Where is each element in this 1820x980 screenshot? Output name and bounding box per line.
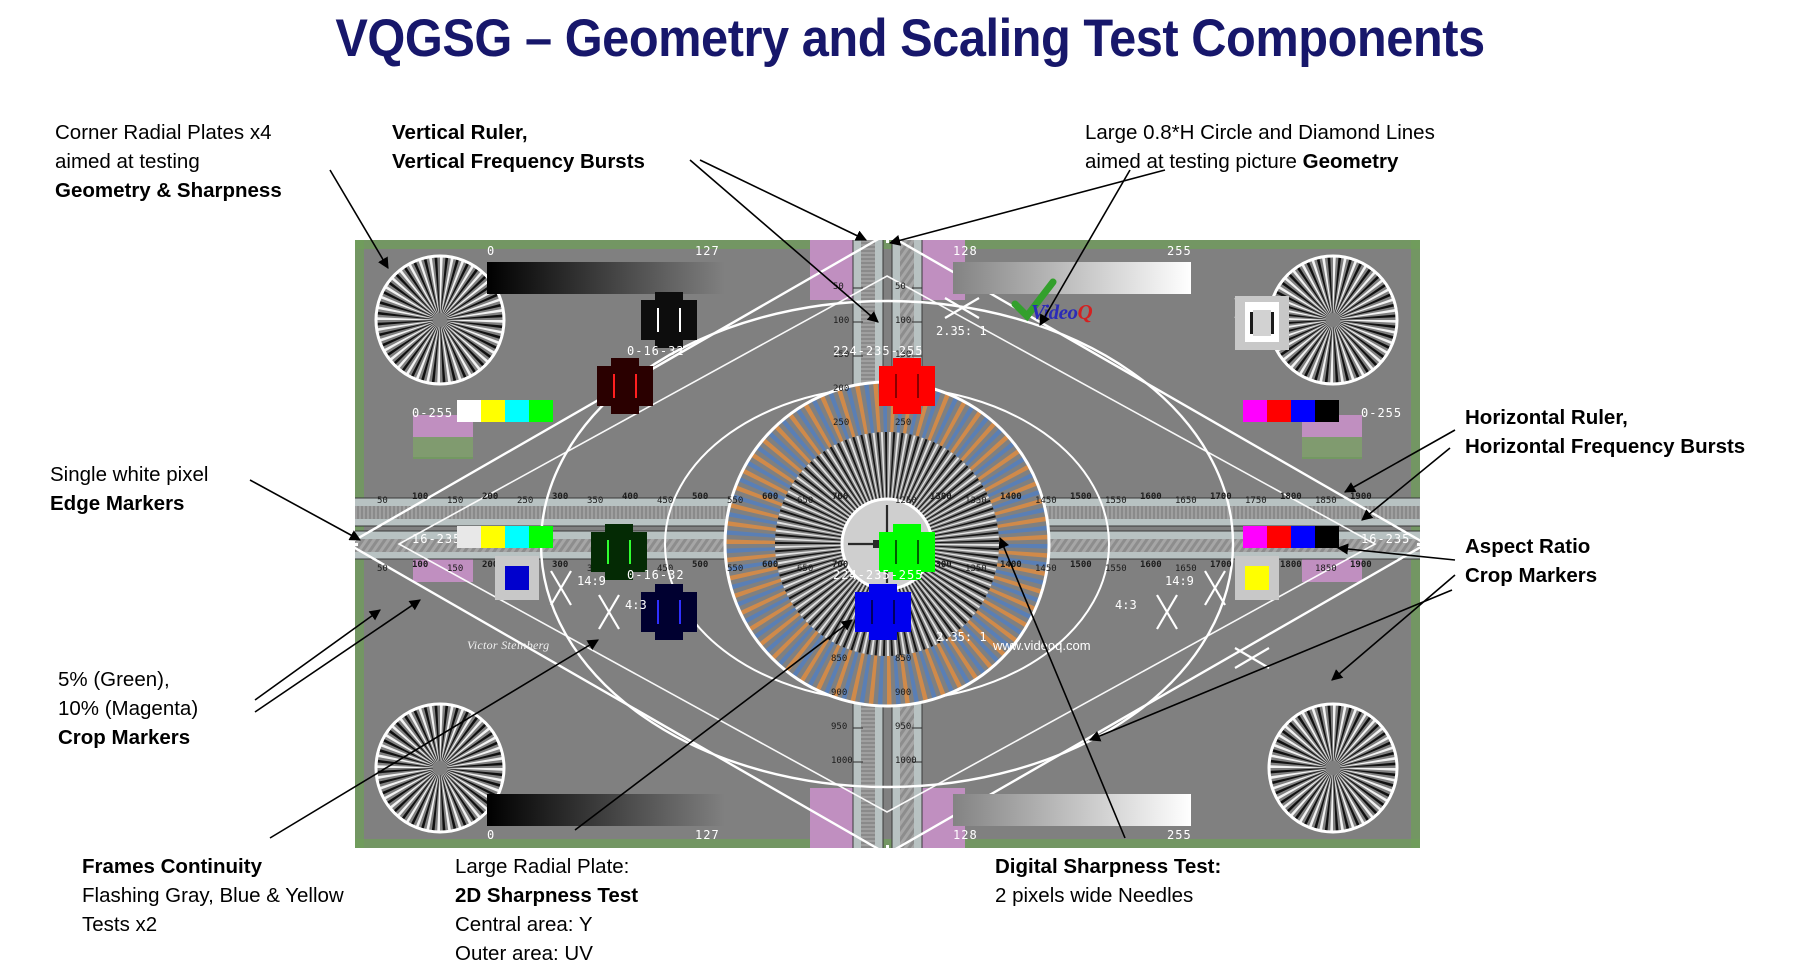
ruler-tick-label: 100 [412, 560, 428, 570]
annotation-large-circle-diamond: Large 0.8*H Circle and Diamond Linesaime… [1085, 118, 1435, 176]
annotation-line: aimed at testing picture Geometry [1085, 147, 1435, 176]
ruler-tick-label: 1350 [965, 564, 987, 574]
ruler-tick-label: 1550 [1105, 496, 1127, 506]
needle-red-dark [597, 358, 653, 414]
ruler-tick-label: 1250 [895, 496, 917, 506]
ruler-tick-label: 1400 [1000, 560, 1022, 570]
ruler-tick-label: 600 [762, 492, 778, 502]
ruler-tick-label: 500 [692, 560, 708, 570]
ruler-tick-label: 1000 [831, 756, 853, 766]
ruler-tick-label: 250 [895, 418, 911, 428]
annotation-line: 2D Sharpness Test [455, 881, 638, 910]
logo-text-primary: Video [1031, 300, 1078, 324]
ramp-top-left-low: 0 [487, 244, 495, 258]
ruler-tick-label: 300 [552, 560, 568, 570]
annotation-line: Large Radial Plate: [455, 852, 638, 881]
ruler-tick-label: 600 [762, 560, 778, 570]
aspect-label-149-right: 14:9 [1165, 574, 1194, 588]
color-swatch [529, 526, 553, 548]
needle-label-bottom-right: 224-235-255 [833, 568, 923, 582]
annotation-line: Vertical Frequency Bursts [392, 147, 645, 176]
ramp-top-left [487, 262, 725, 294]
ruler-tick-label: 550 [727, 564, 743, 574]
annotation-frames-continuity: Frames ContinuityFlashing Gray, Blue & Y… [82, 852, 344, 939]
ruler-tick-label: 500 [692, 492, 708, 502]
ruler-tick-label: 1450 [1035, 564, 1057, 574]
ruler-tick-label: 950 [831, 722, 847, 732]
ruler-tick-label: 250 [517, 496, 533, 506]
ruler-tick-label: 950 [895, 722, 911, 732]
ruler-tick-label: 1600 [1140, 560, 1162, 570]
color-swatch [1315, 400, 1339, 422]
colorbar-label-upper-right: 0-255 [1361, 406, 1402, 420]
aspect-label-43-left: 4:3 [625, 598, 647, 612]
color-swatch [481, 400, 505, 422]
ruler-tick-label: 1000 [895, 756, 917, 766]
ramp-bottom-right-high: 255 [1167, 828, 1192, 842]
ruler-tick-label: 550 [727, 496, 743, 506]
annotation-line: Aspect Ratio [1465, 532, 1597, 561]
annotation-line: Corner Radial Plates x4 [55, 118, 282, 147]
annotation-single-white-pixel: Single white pixelEdge Markers [50, 460, 208, 518]
aspect-label-235-bottom: 2.35: 1 [936, 630, 987, 644]
needle-blue-dark [641, 584, 697, 640]
ruler-tick-label: 1450 [1035, 496, 1057, 506]
aspect-label-43-right: 4:3 [1115, 598, 1137, 612]
ruler-tick-label: 650 [797, 496, 813, 506]
annotation-line: Flashing Gray, Blue & Yellow [82, 881, 344, 910]
ramp-bottom-left-low: 0 [487, 828, 495, 842]
needle-red [879, 358, 935, 414]
ruler-tick-label: 200 [482, 492, 498, 502]
ruler-tick-label: 100 [833, 316, 849, 326]
ruler-tick-label: 1650 [1175, 496, 1197, 506]
ruler-tick-label: 150 [447, 564, 463, 574]
annotation-line: 10% (Magenta) [58, 694, 198, 723]
videoq-logo: VideoQ [1007, 278, 1093, 324]
annotation-line: 5% (Green), [58, 665, 198, 694]
logo-text-accent: Q [1078, 300, 1093, 324]
corner-radial-plate [376, 256, 504, 384]
ruler-tick-label: 450 [657, 496, 673, 506]
ruler-tick-label: 150 [447, 496, 463, 506]
ruler-tick-label: 400 [622, 492, 638, 502]
ruler-tick-label: 250 [833, 418, 849, 428]
ruler-tick-label: 200 [833, 384, 849, 394]
ruler-tick-label: 50 [377, 564, 388, 574]
colorbars-upper-left [457, 400, 553, 422]
annotation-aspect-ratio-crop-markers: Aspect RatioCrop Markers [1465, 532, 1597, 590]
ruler-tick-label: 1500 [1070, 492, 1092, 502]
annotation-line: Edge Markers [50, 489, 208, 518]
ruler-tick-label: 350 [587, 496, 603, 506]
ruler-tick-label: 1400 [1000, 492, 1022, 502]
color-swatch [457, 400, 481, 422]
color-swatch [481, 526, 505, 548]
ruler-tick-label: 850 [831, 654, 847, 664]
ruler-tick-label: 1750 [1245, 496, 1267, 506]
colorbars-lower-left [457, 526, 553, 548]
colorbar-label-lower-left: 16-235 [412, 532, 461, 546]
ruler-tick-label: 900 [895, 688, 911, 698]
color-swatch [457, 526, 481, 548]
ruler-tick-label: 900 [831, 688, 847, 698]
color-swatch [1291, 400, 1315, 422]
needle-blue [855, 584, 911, 640]
annotation-line: 2 pixels wide Needles [995, 881, 1221, 910]
color-swatch [1315, 526, 1339, 548]
ruler-tick-label: 100 [412, 492, 428, 502]
annotation-line: Single white pixel [50, 460, 208, 489]
ruler-tick-label: 1800 [1280, 560, 1302, 570]
ruler-tick-label: 650 [797, 564, 813, 574]
needle-black-top [641, 292, 697, 348]
corner-radial-plate [376, 704, 504, 832]
ruler-tick-label: 300 [552, 492, 568, 502]
annotation-line: Large 0.8*H Circle and Diamond Lines [1085, 118, 1435, 147]
annotation-line: Tests x2 [82, 910, 344, 939]
aspect-label-149-left: 14:9 [577, 574, 606, 588]
colorbar-label-lower-right: 16-235 [1361, 532, 1410, 546]
ruler-tick-label: 1700 [1210, 492, 1232, 502]
ruler-tick-label: 850 [895, 654, 911, 664]
colorbars-lower-right [1243, 526, 1339, 548]
flashing-yellow-box [1235, 556, 1279, 600]
color-swatch [1291, 526, 1315, 548]
annotation-line: Crop Markers [1465, 561, 1597, 590]
ramp-bottom-right-low: 128 [953, 828, 978, 842]
annotation-line: aimed at testing [55, 147, 282, 176]
annotation-vertical-ruler: Vertical Ruler,Vertical Frequency Bursts [392, 118, 645, 176]
color-swatch [505, 526, 529, 548]
flashing-gray-box [1235, 296, 1289, 350]
annotation-line: Outer area: UV [455, 939, 638, 968]
annotation-line: Crop Markers [58, 723, 198, 752]
ruler-tick-label: 1850 [1315, 496, 1337, 506]
flashing-blue-box [495, 556, 539, 600]
ramp-top-right-high: 255 [1167, 244, 1192, 258]
needle-label-bottom-left: 0-16-32 [627, 568, 685, 582]
annotation-line: Frames Continuity [82, 852, 344, 881]
ruler-tick-label: 50 [833, 282, 844, 292]
color-swatch [1243, 526, 1267, 548]
ruler-tick-label: 700 [832, 492, 848, 502]
page-title: VQGSG – Geometry and Scaling Test Compon… [73, 8, 1747, 69]
ruler-tick-label: 1700 [1210, 560, 1232, 570]
ruler-tick-label: 1500 [1070, 560, 1092, 570]
ruler-tick-label: 1350 [965, 496, 987, 506]
ramp-bottom-left [487, 794, 725, 826]
color-swatch [1267, 400, 1291, 422]
vqgsg-test-pattern-image: 0 127 128 255 0 127 128 255 505010010015… [355, 240, 1420, 848]
annotation-line: Central area: Y [455, 910, 638, 939]
color-swatch [505, 400, 529, 422]
ramp-top-left-high: 127 [695, 244, 720, 258]
ruler-tick-label: 50 [895, 282, 906, 292]
annotation-line: Geometry & Sharpness [55, 176, 282, 205]
ruler-tick-label: 100 [895, 316, 911, 326]
corner-radial-plate [1269, 704, 1397, 832]
annotation-digital-sharpness-test: Digital Sharpness Test:2 pixels wide Nee… [995, 852, 1221, 910]
slide-canvas: VQGSG – Geometry and Scaling Test Compon… [0, 0, 1820, 980]
color-swatch [529, 400, 553, 422]
ruler-tick-label: 1800 [1280, 492, 1302, 502]
annotation-horizontal-ruler: Horizontal Ruler,Horizontal Frequency Bu… [1465, 403, 1745, 461]
ruler-tick-label: 1900 [1350, 492, 1372, 502]
ruler-tick-label: 1650 [1175, 564, 1197, 574]
ruler-tick-label: 1600 [1140, 492, 1162, 502]
ruler-tick-label: 1850 [1315, 564, 1337, 574]
ramp-bottom-right [953, 794, 1191, 826]
ruler-tick-label: 1900 [1350, 560, 1372, 570]
annotation-line: Vertical Ruler, [392, 118, 645, 147]
aspect-label-235-top: 2.35: 1 [936, 324, 987, 338]
colorbars-upper-right [1243, 400, 1339, 422]
needle-label-top-right: 224-235-255 [833, 344, 923, 358]
needle-label-top-left: 0-16-32 [627, 344, 685, 358]
annotation-large-radial-plate: Large Radial Plate:2D Sharpness TestCent… [455, 852, 638, 968]
ramp-bottom-left-high: 127 [695, 828, 720, 842]
ruler-tick-label: 1550 [1105, 564, 1127, 574]
ruler-tick-label: 1300 [930, 492, 952, 502]
ramp-top-right-low: 128 [953, 244, 978, 258]
annotation-percent-crop-markers: 5% (Green),10% (Magenta)Crop Markers [58, 665, 198, 752]
annotation-line: Horizontal Frequency Bursts [1465, 432, 1745, 461]
ruler-tick-label: 50 [377, 496, 388, 506]
annotation-line: Digital Sharpness Test: [995, 852, 1221, 881]
website-url: www.videoq.com [993, 638, 1091, 653]
colorbar-label-upper-left: 0-255 [412, 406, 453, 420]
color-swatch [1267, 526, 1291, 548]
annotation-corner-radial-plates: Corner Radial Plates x4aimed at testingG… [55, 118, 282, 205]
author-signature: Victor Steinberg [467, 638, 549, 653]
color-swatch [1243, 400, 1267, 422]
annotation-line: Horizontal Ruler, [1465, 403, 1745, 432]
